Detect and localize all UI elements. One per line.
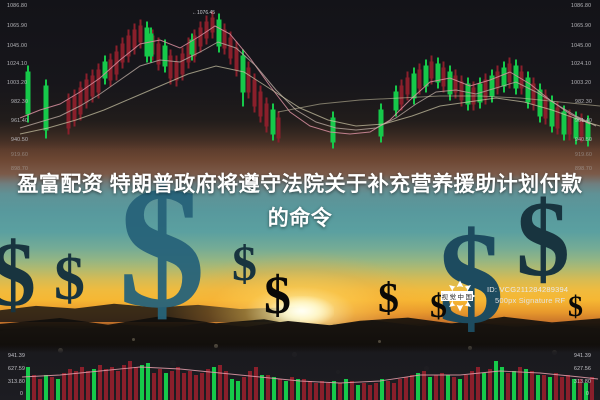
brand-char: 觉 [449, 291, 457, 301]
dollar-sign-icon: $ [54, 248, 85, 310]
volume-axis-tick-left: 941.39 [8, 353, 25, 359]
price-axis-tick-left: 1086.80 [7, 3, 27, 9]
price-axis-tick-right: 940.50 [575, 137, 592, 143]
price-chart-svg [0, 0, 600, 150]
volume-axis-tick-left: 627.59 [8, 366, 25, 372]
watermark-id: ID: VCG211284289394 [487, 285, 568, 294]
brand-char: 国 [465, 291, 473, 301]
brand-char: 中 [457, 291, 465, 301]
dollar-sign-icon: $ [0, 228, 36, 320]
volume-axis-tick-right: 0 [586, 391, 589, 397]
dollar-sign-icon: $ [232, 238, 257, 288]
light-particle [378, 340, 381, 343]
volume-axis-tick-right: 313.80 [574, 379, 591, 385]
watermark-license: 500px Signature RF [495, 296, 565, 305]
price-axis-tick-left: 940.50 [11, 137, 28, 143]
price-high-annotation: ←1076.45 [192, 10, 215, 16]
price-axis-tick-right: 1024.10 [571, 61, 591, 67]
annotation-value: 1076.45 [197, 10, 215, 16]
price-axis-tick-left: 982.30 [11, 99, 28, 105]
price-axis-tick-right: 1065.90 [571, 23, 591, 29]
watermark: 视觉中国 ID: VCG211284289394 500px Signature… [443, 277, 593, 319]
price-axis-tick-right: 982.30 [575, 99, 592, 105]
dollar-sign-icon: $ [378, 278, 399, 320]
price-axis-tick-left: 1024.10 [7, 61, 27, 67]
price-axis-tick-right: 961.40 [575, 118, 592, 124]
price-axis-tick-right: 1003.20 [571, 80, 591, 86]
volume-axis-tick-right: 627.56 [574, 366, 591, 372]
price-axis-tick-right: 1086.80 [571, 3, 591, 9]
price-axis-tick-left-faded: 919.60 [11, 152, 28, 158]
watermark-brand-cn: 视觉中国 [441, 291, 473, 301]
price-candlestick-chart: 1086.80 1065.90 1045.00 1024.10 1003.20 … [0, 0, 600, 150]
volume-axis-tick-left: 313.80 [8, 379, 25, 385]
price-axis-tick-left: 1045.00 [7, 43, 27, 49]
price-axis-tick-left: 1003.20 [7, 80, 27, 86]
volume-axis-tick-right: 941.39 [574, 353, 591, 359]
price-axis-tick-left: 961.40 [11, 118, 28, 124]
volume-axis-tick-left: 0 [20, 391, 23, 397]
brand-char: 视 [441, 291, 449, 301]
light-particle [132, 338, 135, 341]
price-axis-tick-right-faded: 919.60 [575, 152, 592, 158]
volume-chart-svg [0, 345, 600, 400]
news-thumbnail-image: $ $ $ $ $ $ $ $ $ $ [0, 0, 600, 400]
volume-chart: 941.39 627.59 313.80 0 941.39 627.56 313… [0, 345, 600, 400]
price-axis-tick-right: 1045.00 [571, 43, 591, 49]
dollar-sign-icon: $ [264, 268, 291, 322]
page-title: 盈富配资 特朗普政府将遵守法院关于补充营养援助计划付款的命令 [0, 168, 600, 236]
price-axis-tick-left: 1065.90 [7, 23, 27, 29]
